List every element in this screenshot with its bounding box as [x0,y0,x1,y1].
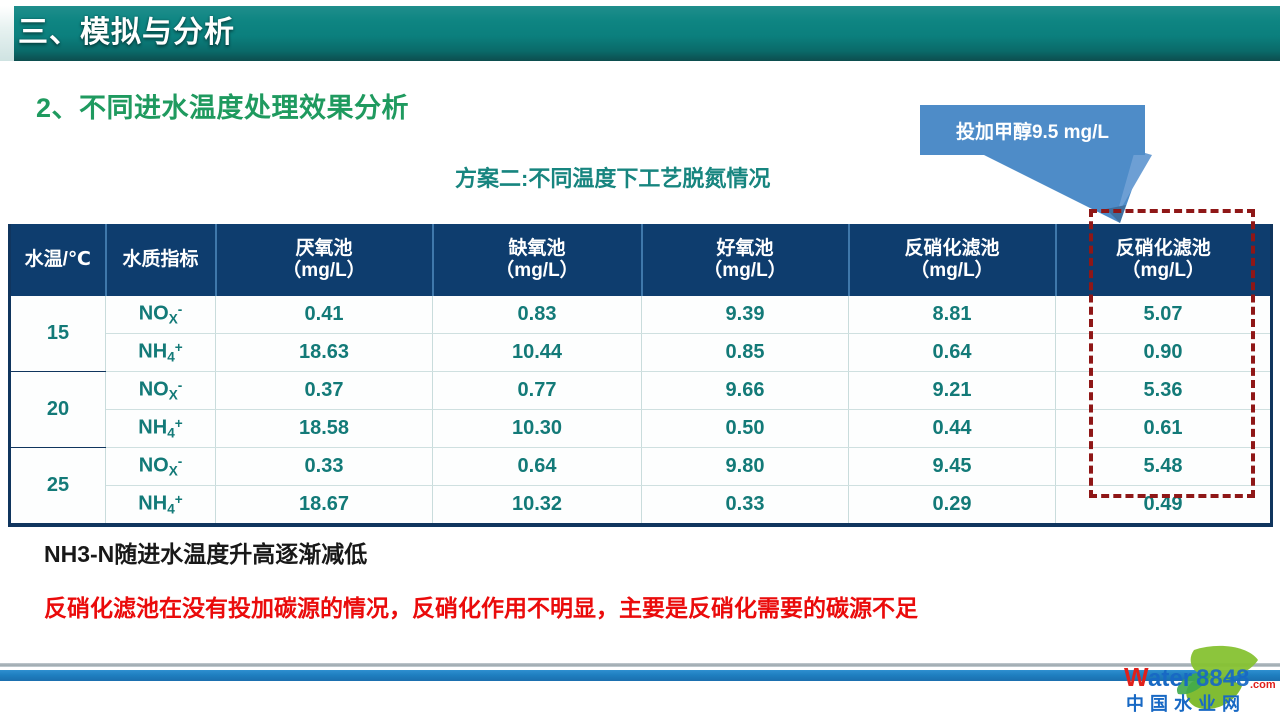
cell-indicator: NOX- [106,372,216,410]
cell-value: 0.50 [642,410,849,448]
table-row: NH4+ 18.63 10.44 0.85 0.64 0.90 [10,334,1272,372]
slide-root: 三、模拟与分析 2、不同进水温度处理效果分析 方案二:不同温度下工艺脱氮情况 投… [0,0,1280,720]
cell-indicator: NH4+ [106,486,216,526]
col-header-line1: 水质指标 [109,249,213,271]
results-table: 水温/℃ 水质指标 厌氧池 （mg/L） 缺氧池 （mg/L） 好氧池 [8,224,1273,527]
cell-value: 18.58 [216,410,433,448]
col-header-line2: （mg/L） [219,260,430,282]
cell-value: 0.44 [849,410,1056,448]
col-header-denitrification-filter-2: 反硝化滤池 （mg/L） [1056,224,1272,296]
table-row: NH4+ 18.58 10.30 0.50 0.44 0.61 [10,410,1272,448]
col-header-aerobic-tank: 好氧池 （mg/L） [642,224,849,296]
col-header-denitrification-filter-1: 反硝化滤池 （mg/L） [849,224,1056,296]
col-header-line2: （mg/L） [645,260,846,282]
cell-value: 8.81 [849,296,1056,334]
col-header-line1: 水温/℃ [13,249,103,271]
table-row: 25 NOX- 0.33 0.64 9.80 9.45 5.48 [10,448,1272,486]
col-header-anaerobic-tank: 厌氧池 （mg/L） [216,224,433,296]
cell-value: 9.80 [642,448,849,486]
cell-value: 9.39 [642,296,849,334]
callout-label: 投加甲醇9.5 mg/L [956,117,1109,144]
logo-graphic: W ater 8848 .com 中国水业网 [1122,644,1280,720]
col-header-line1: 缺氧池 [436,238,639,260]
table-row: 20 NOX- 0.37 0.77 9.66 9.21 5.36 [10,372,1272,410]
cell-value: 9.45 [849,448,1056,486]
cell-value: 10.32 [433,486,642,526]
watermark-logo: W ater 8848 .com 中国水业网 [1122,644,1280,720]
note-warning: 反硝化滤池在没有投加碳源的情况，反硝化作用不明显，主要是反硝化需要的碳源不足 [44,589,918,623]
cell-value: 9.21 [849,372,1056,410]
logo-latin-rest: ater [1148,665,1192,692]
cell-value: 18.67 [216,486,433,526]
cell-value-highlighted: 5.48 [1056,448,1272,486]
col-header-line2: （mg/L） [436,260,639,282]
logo-latin-tld: .com [1250,679,1276,691]
cell-value: 9.66 [642,372,849,410]
cell-value-highlighted: 0.61 [1056,410,1272,448]
cell-value-highlighted: 5.36 [1056,372,1272,410]
col-header-anoxic-tank: 缺氧池 （mg/L） [433,224,642,296]
col-header-line1: 反硝化滤池 [852,238,1053,260]
cell-value: 0.85 [642,334,849,372]
callout-box: 投加甲醇9.5 mg/L [920,105,1145,155]
cell-value: 0.33 [642,486,849,526]
cell-value: 0.41 [216,296,433,334]
table-body: 15 NOX- 0.41 0.83 9.39 8.81 5.07 NH4+ 18… [10,296,1272,525]
table-caption: 方案二:不同温度下工艺脱氮情况 [455,161,770,193]
cell-water-temp: 20 [10,372,106,448]
col-header-line2: （mg/L） [1059,260,1269,282]
cell-value-highlighted: 0.49 [1056,486,1272,526]
cell-water-temp: 15 [10,296,106,372]
results-table-container: 水温/℃ 水质指标 厌氧池 （mg/L） 缺氧池 （mg/L） 好氧池 [8,224,1270,527]
cell-value-highlighted: 5.07 [1056,296,1272,334]
cell-value: 0.77 [433,372,642,410]
col-header-line1: 厌氧池 [219,238,430,260]
col-header-line1: 反硝化滤池 [1059,238,1269,260]
cell-value-highlighted: 0.90 [1056,334,1272,372]
logo-latin-digits: 8848 [1196,665,1249,692]
cell-value: 10.30 [433,410,642,448]
cell-indicator: NH4+ [106,334,216,372]
cell-water-temp: 25 [10,448,106,526]
banner-title: 三、模拟与分析 [18,8,235,58]
cell-value: 18.63 [216,334,433,372]
col-header-water-temp: 水温/℃ [10,224,106,296]
table-header-row: 水温/℃ 水质指标 厌氧池 （mg/L） 缺氧池 （mg/L） 好氧池 [10,224,1272,296]
table-header: 水温/℃ 水质指标 厌氧池 （mg/L） 缺氧池 （mg/L） 好氧池 [10,224,1272,296]
col-header-quality-index: 水质指标 [106,224,216,296]
footer-blue-bar [0,670,1280,681]
table-row: NH4+ 18.67 10.32 0.33 0.29 0.49 [10,486,1272,526]
cell-indicator: NH4+ [106,410,216,448]
col-header-line1: 好氧池 [645,238,846,260]
cell-value: 0.64 [433,448,642,486]
section-heading: 2、不同进水温度处理效果分析 [36,86,409,125]
banner-left-cap [0,6,14,61]
cell-value: 0.33 [216,448,433,486]
cell-value: 0.64 [849,334,1056,372]
cell-indicator: NOX- [106,448,216,486]
cell-value: 10.44 [433,334,642,372]
note-primary: NH3-N随进水温度升高逐渐减低 [44,535,367,569]
logo-latin-w: W [1124,662,1149,692]
footer-gray-rule [0,663,1280,667]
table-row: 15 NOX- 0.41 0.83 9.39 8.81 5.07 [10,296,1272,334]
logo-chinese: 中国水业网 [1126,693,1246,714]
cell-value: 0.83 [433,296,642,334]
cell-value: 0.37 [216,372,433,410]
col-header-line2: （mg/L） [852,260,1053,282]
cell-value: 0.29 [849,486,1056,526]
cell-indicator: NOX- [106,296,216,334]
